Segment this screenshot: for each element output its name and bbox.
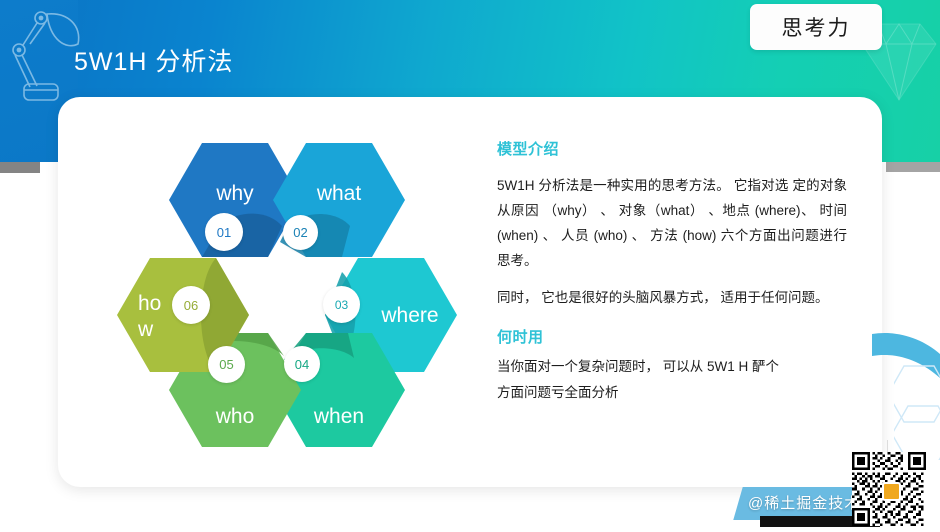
- left-gray-strip: [0, 162, 40, 173]
- page-title: 5W1H 分析法: [74, 44, 404, 80]
- section-heading-intro: 模型介绍: [497, 138, 847, 159]
- status-badge: 思考力: [750, 4, 882, 50]
- hex-number-02: 02: [283, 215, 318, 250]
- hexagon-outline-decoration: [894, 360, 940, 460]
- hex-number-04: 04: [284, 346, 320, 382]
- qr-logo-icon: [882, 482, 901, 501]
- qr-code: [852, 452, 926, 526]
- section-heading-when: 何时用: [497, 326, 847, 347]
- badge-label: 思考力: [782, 12, 851, 42]
- hexagon-diagram: why what where when who ho w 01 02 03 04…: [92, 130, 462, 460]
- hex-number-06: 06: [172, 286, 210, 324]
- hex-label-where: where: [380, 304, 438, 327]
- hex-label-how: ho: [138, 292, 161, 315]
- hex-number-03: 03: [323, 286, 360, 323]
- hex-number-05: 05: [208, 346, 245, 383]
- hex-label-why: why: [215, 182, 254, 205]
- right-gray-strip: [886, 162, 940, 172]
- when-paragraph-2: 方面问题亏全面分析: [497, 382, 847, 404]
- hex-label-how-2: w: [137, 318, 154, 341]
- when-paragraph-1: 当你面对一个复杂问题时， 可以从 5W1 H 酽个: [497, 356, 847, 378]
- intro-paragraph-2: 同时， 它也是很好的头脑风暴方式， 适用于任何问题。: [497, 285, 847, 310]
- slide-canvas: 5W1H 分析法 思考力: [0, 0, 940, 532]
- hex-label-who: who: [215, 405, 255, 428]
- hex-number-01: 01: [205, 213, 243, 251]
- hex-label-when: when: [313, 405, 364, 428]
- intro-paragraph-1: 5W1H 分析法是一种实用的思考方法。 它指对选 定的对象从原因 （why） 、…: [497, 173, 847, 273]
- content-text-column: 模型介绍 5W1H 分析法是一种实用的思考方法。 它指对选 定的对象从原因 （w…: [497, 138, 847, 404]
- hex-label-what: what: [316, 182, 362, 205]
